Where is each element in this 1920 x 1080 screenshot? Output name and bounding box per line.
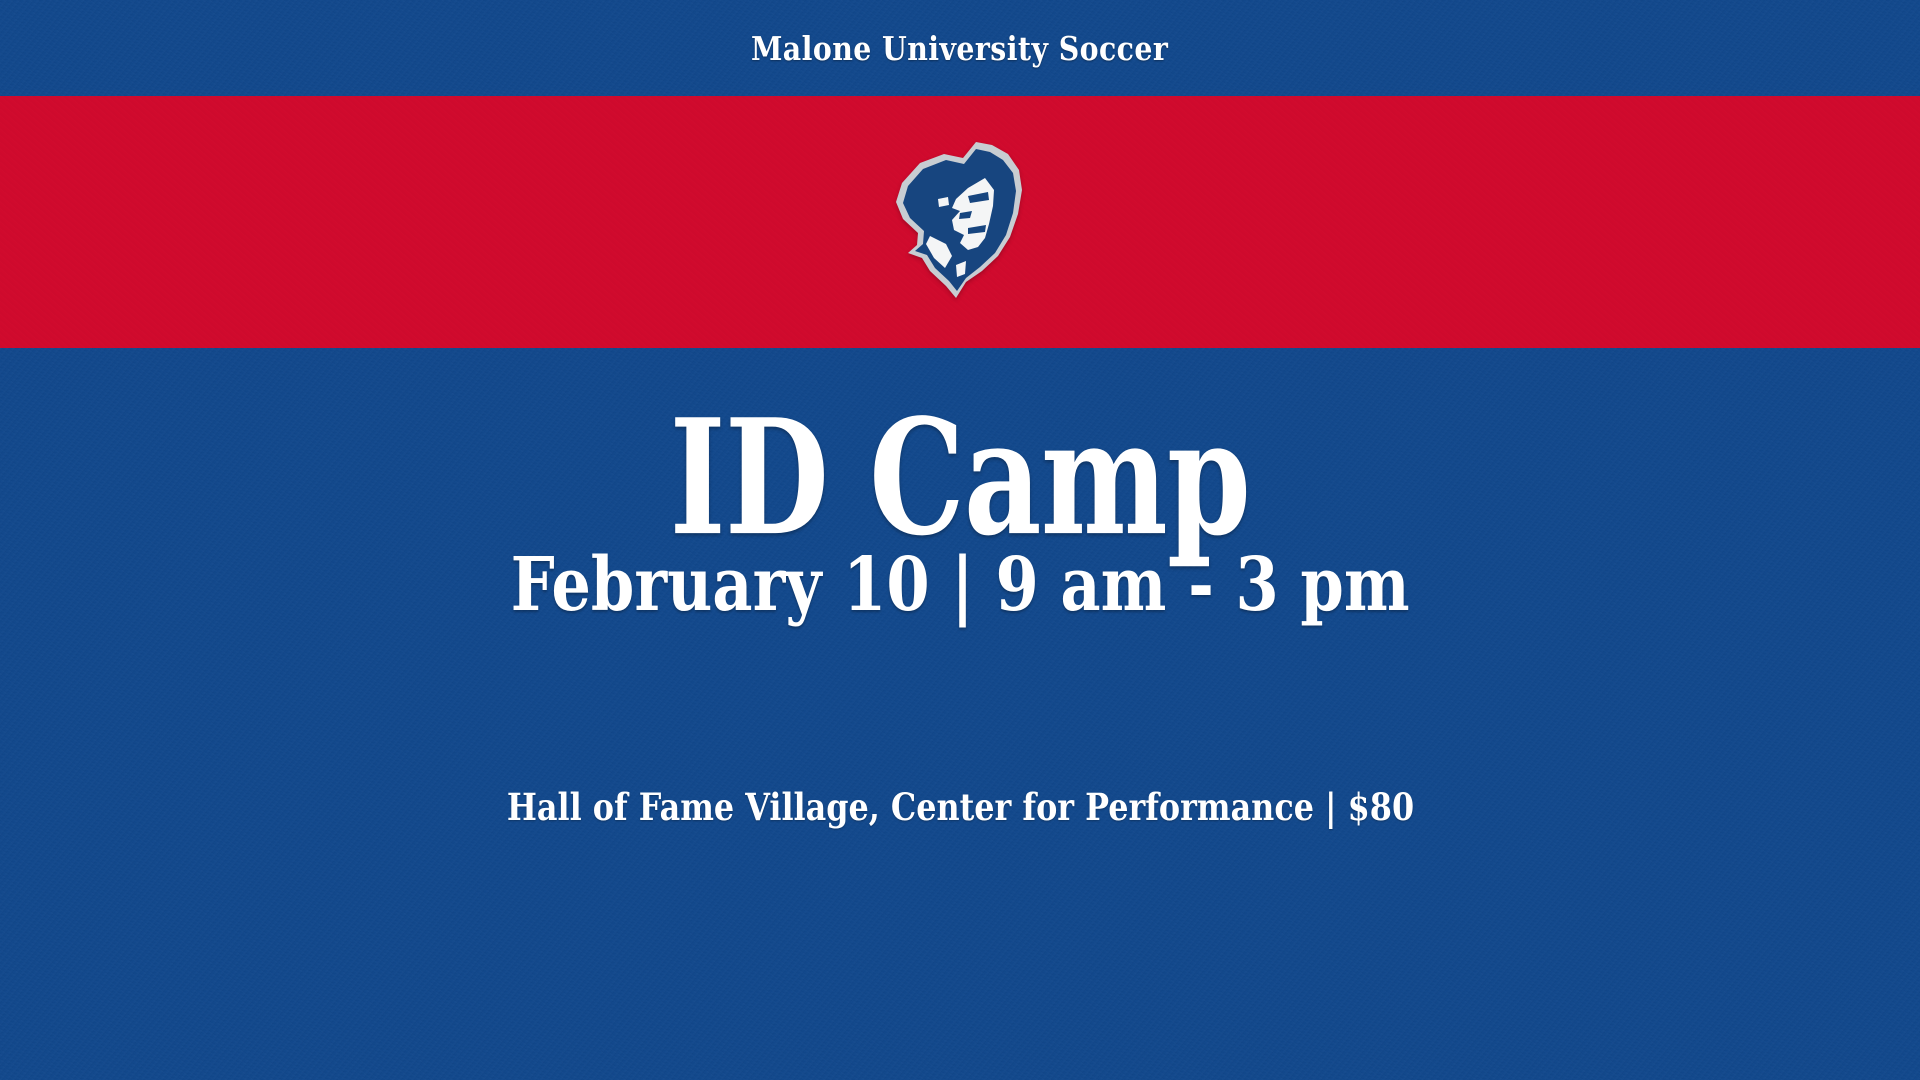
header-bar: Malone University Soccer (0, 0, 1920, 96)
id-camp-poster: Malone University Soccer (0, 0, 1920, 1080)
camp-date-line: February 10 | 9 am - 3 pm (0, 548, 1920, 622)
camp-location-text: Hall of Fame Village, Center for Perform… (506, 789, 1413, 826)
camp-location-line: Hall of Fame Village, Center for Perform… (0, 789, 1920, 826)
camp-date-text: February 10 | 9 am - 3 pm (510, 548, 1409, 622)
camp-title-text: ID Camp (670, 399, 1251, 558)
malone-pioneers-logo-icon (890, 140, 1030, 300)
page-title: Malone University Soccer (751, 32, 1168, 65)
logo-container (0, 140, 1920, 300)
main-content: ID Camp February 10 | 9 am - 3 pm Hall o… (0, 348, 1920, 1080)
camp-title-line: ID Camp (0, 403, 1920, 553)
